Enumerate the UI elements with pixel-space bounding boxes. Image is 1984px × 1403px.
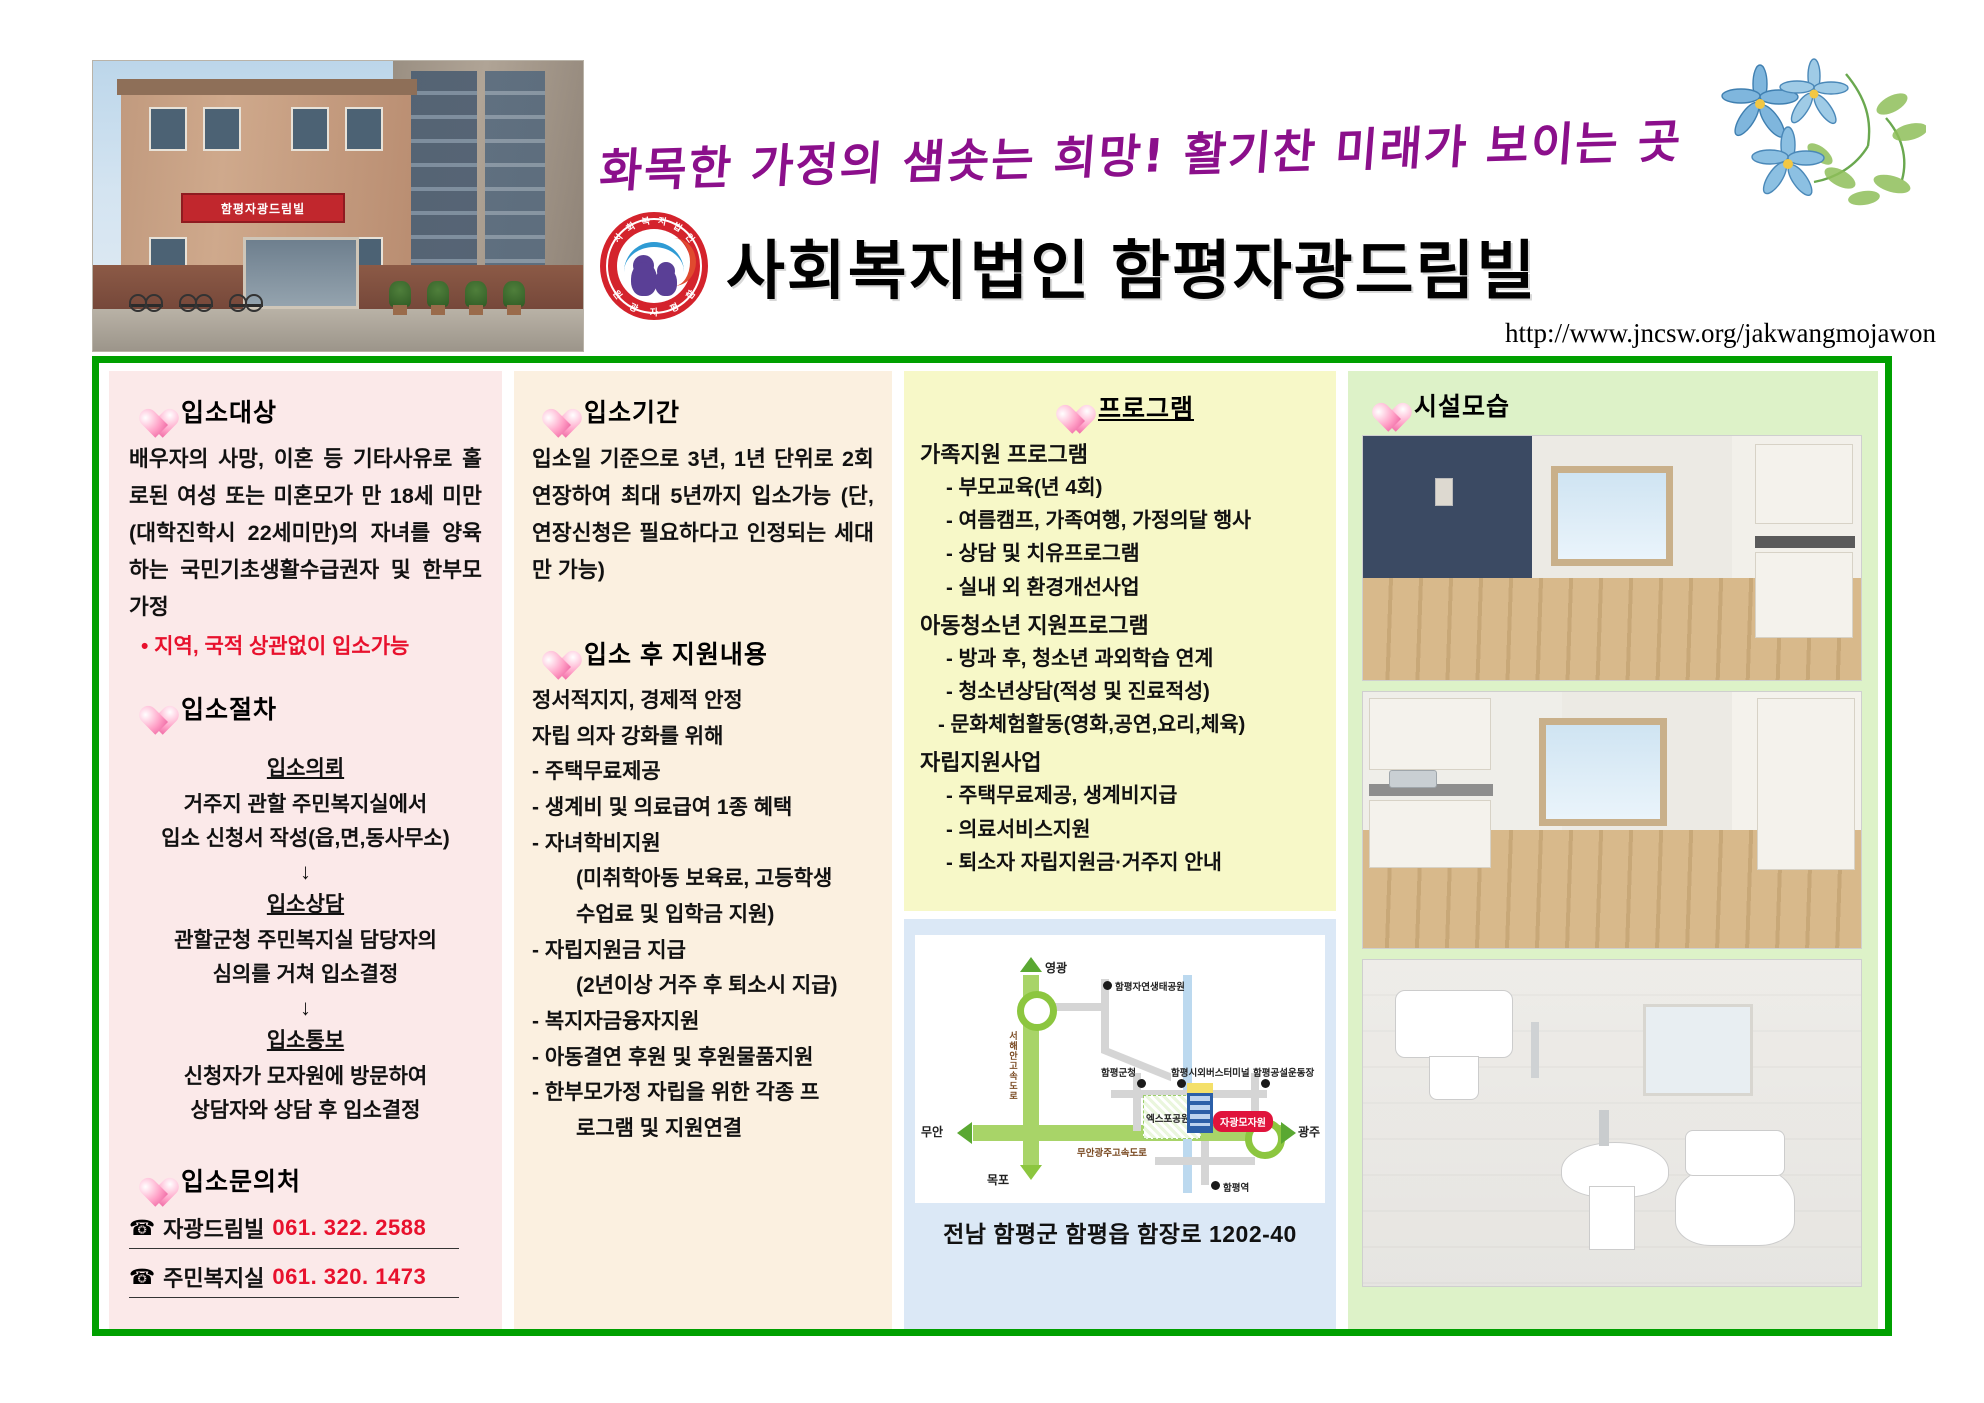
facility-photo-living-room <box>1362 435 1862 681</box>
telephone-icon: ☎ <box>129 1265 155 1290</box>
contact-name: 주민복지실 <box>163 1261 264 1293</box>
procedure-step-title: 입소통보 <box>129 1024 482 1058</box>
map-landmark-label: 엑스포공원 <box>1146 1111 1190 1125</box>
heart-icon <box>1050 391 1084 423</box>
procedure-step-line: 관할군청 주민복지실 담당자의 <box>174 929 437 952</box>
program-group: 자립지원사업 - 주택무료제공, 생계비지급 - 의료서비스지원 - 퇴소자 자… <box>920 745 1320 879</box>
contact-name: 자광드림빌 <box>163 1212 264 1244</box>
tagline: 화목한 가정의 샘솟는 희망! 활기찬 미래가 보이는 곳 <box>597 105 1695 201</box>
heart-icon <box>1366 389 1400 421</box>
support-item-sub: (미취학아동 보육료, 고등학생 <box>532 861 874 897</box>
heart-icon <box>133 692 167 724</box>
map-dot-icon <box>1261 1079 1270 1088</box>
support-item: - 주택무료제공 <box>532 754 874 790</box>
facility-address: 전남 함평군 함평읍 함장로 1202-40 <box>914 1215 1326 1249</box>
section-heading-programs: 프로그램 <box>924 389 1320 425</box>
contact-number[interactable]: 061. 322. 2588 <box>272 1215 426 1241</box>
support-item: - 자립지원금 지급 <box>532 933 874 969</box>
program-item: - 의료서비스지원 <box>920 813 1320 846</box>
map-dot-icon <box>1177 1079 1186 1088</box>
website-url[interactable]: http://www.jncsw.org/jakwangmojawon <box>1505 318 1936 349</box>
section-heading-admission-target: 입소대상 <box>133 393 482 429</box>
program-item: - 주택무료제공, 생계비지급 <box>920 779 1320 812</box>
arrow-right-icon <box>1281 1122 1296 1144</box>
map-highway-label: 무안광주고속도로 <box>1077 1145 1147 1159</box>
map-direction-north: 영광 <box>1045 959 1067 976</box>
support-item: - 한부모가정 자립을 위한 각종 프 <box>532 1075 874 1111</box>
map-dot-icon <box>1211 1181 1220 1190</box>
heart-icon <box>536 395 570 427</box>
contact-row[interactable]: ☎ 자광드림빌 061. 322. 2588 <box>129 1210 459 1249</box>
program-item: - 문화체험활동(영화,공연,요리,체육) <box>920 708 1320 741</box>
map-junction-node <box>1017 991 1057 1031</box>
map-direction-east: 광주 <box>1298 1123 1320 1140</box>
heart-icon <box>133 1164 167 1196</box>
support-intro-line: 정서적지지, 경제적 안정 <box>532 683 874 719</box>
procedure-step-title: 입소상담 <box>129 888 482 922</box>
arrow-down-icon: ↓ <box>129 996 482 1020</box>
arrow-left-icon <box>957 1122 972 1144</box>
program-group: 가족지원 프로그램 - 부모교육(년 4회) - 여름캠프, 가족여행, 가정의… <box>920 437 1320 604</box>
map-landmark-label: 함평자연생태공원 <box>1115 979 1185 993</box>
map-landmark-label: 함평시외버스터미널 <box>1171 1065 1250 1079</box>
brochure-page: 함평자광드림빌 화목한 가정의 샘솟는 희망! 활기찬 미래가 보이는 곳 <box>0 0 1984 1403</box>
support-item-sub: 수업료 및 입학금 지원) <box>532 897 874 933</box>
location-map[interactable]: 엑스포공원 영광 목포 무안 광주 서해안고속도로 무안광주고속도로 함평자 <box>915 935 1325 1203</box>
admission-period-body: 입소일 기준으로 3년, 1년 단위로 2회 연장하여 최대 5년까지 입소가능… <box>532 441 874 589</box>
program-item: - 청소년상담(적성 및 진료적성) <box>920 675 1320 708</box>
facility-photo-bathroom <box>1362 959 1862 1287</box>
facility-photo-room <box>1362 691 1862 949</box>
procedure-step-line: 심의를 거쳐 입소결정 <box>213 963 399 986</box>
contact-number[interactable]: 061. 320. 1473 <box>272 1264 426 1290</box>
content-frame: 입소대상 배우자의 사망, 이혼 등 기타사유로 홀로된 여성 또는 미혼모가 … <box>92 356 1892 1336</box>
procedure-flow: 입소의뢰 거주지 관할 주민복지실에서 입소 신청서 작성(읍,면,동사무소) … <box>129 752 482 1129</box>
procedure-step-line: 상담자와 상담 후 입소결정 <box>190 1099 420 1122</box>
section-heading-contact: 입소문의처 <box>133 1162 482 1198</box>
map-direction-west: 무안 <box>921 1123 943 1140</box>
support-item: - 아동결연 후원 및 후원물품지원 <box>532 1040 874 1076</box>
contact-row[interactable]: ☎ 주민복지실 061. 320. 1473 <box>129 1259 459 1298</box>
arrow-down-icon: ↓ <box>129 860 482 884</box>
map-dot-icon <box>1137 1079 1146 1088</box>
program-group-title: 아동청소년 지원프로그램 <box>920 608 1320 640</box>
heart-icon <box>536 637 570 669</box>
support-items: - 주택무료제공 - 생계비 및 의료급여 1종 혜택 - 자녀학비지원 (미취… <box>532 754 874 1147</box>
organization-logo-icon: 사회복지법인함평자광원 <box>600 212 708 320</box>
section-heading-facility: 시설모습 <box>1366 387 1864 423</box>
flower-decoration-icon <box>1696 58 1926 218</box>
map-landmark-label: 함평역 <box>1223 1180 1249 1194</box>
column-map: 엑스포공원 영광 목포 무안 광주 서해안고속도로 무안광주고속도로 함평자 <box>904 919 1336 1329</box>
program-group-title: 자립지원사업 <box>920 745 1320 777</box>
procedure-step-title: 입소의뢰 <box>129 752 482 786</box>
map-dot-icon <box>1103 981 1112 990</box>
procedure-step-line: 거주지 관할 주민복지실에서 <box>184 793 428 816</box>
heart-icon <box>133 395 167 427</box>
column-facility-photos: 시설모습 <box>1348 371 1878 1329</box>
map-landmark-label: 함평군청 <box>1101 1065 1136 1079</box>
map-local-road <box>1201 1141 1209 1185</box>
program-item: - 부모교육(년 4회) <box>920 471 1320 504</box>
section-heading-admission-procedure: 입소절차 <box>133 690 482 726</box>
admission-target-body: 배우자의 사망, 이혼 등 기타사유로 홀로된 여성 또는 미혼모가 만 18세… <box>129 441 482 626</box>
section-heading-support-content: 입소 후 지원내용 <box>536 635 874 671</box>
section-heading-admission-period: 입소기간 <box>536 393 874 429</box>
program-item: - 퇴소자 자립지원금·거주지 안내 <box>920 846 1320 879</box>
program-group: 아동청소년 지원프로그램 - 방과 후, 청소년 과외학습 연계 - 청소년상담… <box>920 608 1320 742</box>
column-programs: 프로그램 가족지원 프로그램 - 부모교육(년 4회) - 여름캠프, 가족여행… <box>904 371 1336 911</box>
program-group-title: 가족지원 프로그램 <box>920 437 1320 469</box>
page-title: 사회복지법인 함평자광드림빌 <box>726 220 1537 312</box>
telephone-icon: ☎ <box>129 1216 155 1241</box>
program-item: - 상담 및 치유프로그램 <box>920 537 1320 570</box>
admission-target-note: • 지역, 국적 상관없이 입소가능 <box>129 630 482 660</box>
support-intro-line: 자립 의자 강화를 위해 <box>532 719 874 755</box>
support-item: - 복지자금융자지원 <box>532 1004 874 1040</box>
support-item: - 생계비 및 의료급여 1종 혜택 <box>532 790 874 826</box>
support-item-sub: (2년이상 거주 후 퇴소시 지급) <box>532 968 874 1004</box>
column-admission-eligibility: 입소대상 배우자의 사망, 이혼 등 기타사유로 홀로된 여성 또는 미혼모가 … <box>109 371 502 1329</box>
support-item-sub: 로그램 및 지원연결 <box>532 1111 874 1147</box>
map-highway-label: 서해안고속도로 <box>1007 1031 1020 1101</box>
map-facility-marker-label: 자광모자원 <box>1213 1111 1273 1132</box>
building-photo: 함평자광드림빌 <box>92 60 584 352</box>
arrow-up-icon <box>1020 957 1042 972</box>
column-admission-period-support: 입소기간 입소일 기준으로 3년, 1년 단위로 2회 연장하여 최대 5년까지… <box>514 371 892 1329</box>
program-item: - 여름캠프, 가족여행, 가정의달 행사 <box>920 504 1320 537</box>
support-intro: 정서적지지, 경제적 안정 자립 의자 강화를 위해 <box>532 683 874 754</box>
map-landmark-label: 함평공설운동장 <box>1253 1065 1314 1079</box>
procedure-step-line: 신청자가 모자원에 방문하여 <box>184 1065 428 1088</box>
header: 함평자광드림빌 화목한 가정의 샘솟는 희망! 활기찬 미래가 보이는 곳 <box>0 0 1984 352</box>
program-item: - 실내 외 환경개선사업 <box>920 571 1320 604</box>
map-facility-building-icon <box>1187 1083 1213 1133</box>
map-direction-south: 목포 <box>987 1171 1009 1188</box>
title-row: 사회복지법인함평자광원 사회복지법인 함평자광드림빌 <box>600 212 1537 320</box>
program-item: - 방과 후, 청소년 과외학습 연계 <box>920 642 1320 675</box>
support-item: - 자녀학비지원 <box>532 826 874 862</box>
arrow-down-icon <box>1020 1165 1042 1180</box>
building-sign-text: 함평자광드림빌 <box>181 193 345 223</box>
procedure-step-line: 입소 신청서 작성(읍,면,동사무소) <box>161 827 449 850</box>
